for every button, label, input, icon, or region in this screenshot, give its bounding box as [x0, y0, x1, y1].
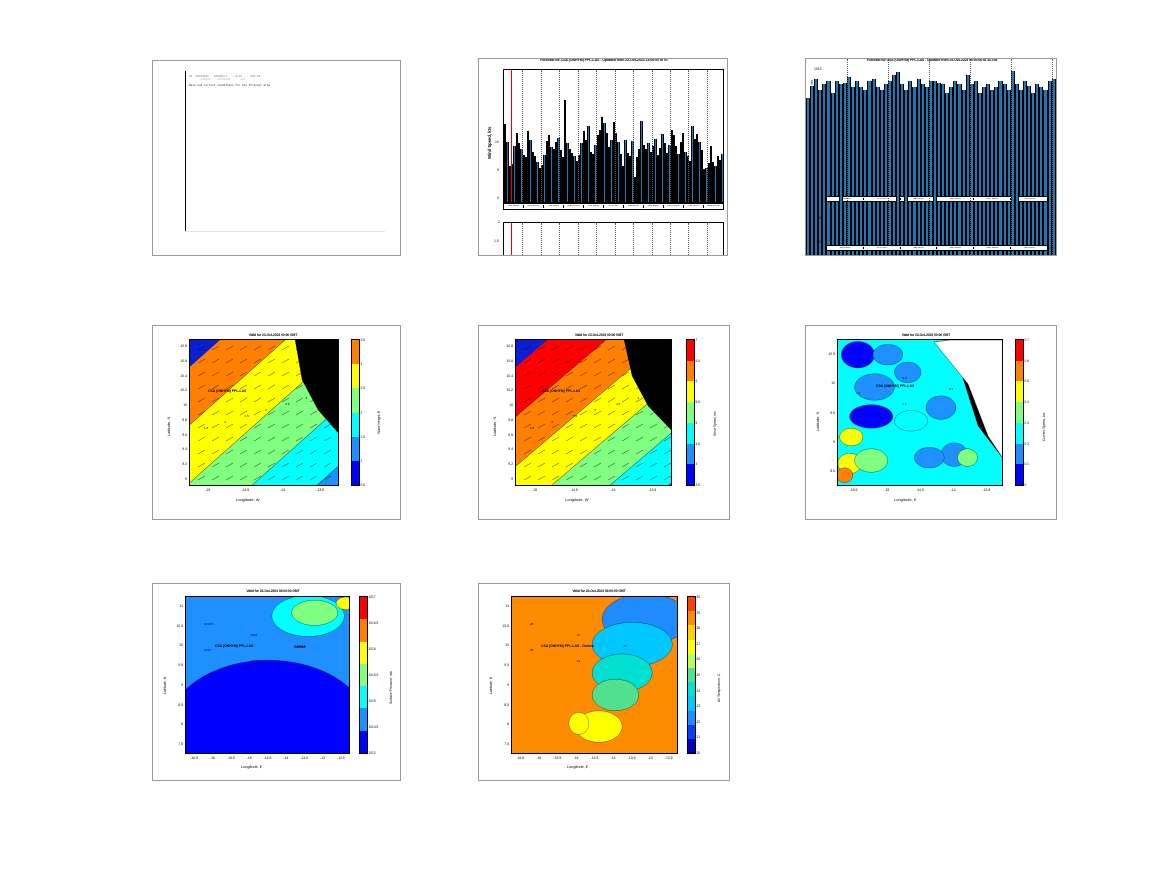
colorbar-tick: 26 — [697, 657, 701, 661]
colorbar-tick: 1.5 — [361, 435, 365, 439]
colorbar-tick: 7 — [696, 338, 698, 342]
gridline — [522, 70, 523, 202]
y-axis-tick: 9.2 — [173, 462, 187, 466]
colorbar-tick: 0.2 — [1025, 442, 1029, 446]
colorbar-tick: 3.5 — [361, 338, 365, 342]
contour-label: 2.5 — [245, 414, 249, 418]
bar — [721, 154, 723, 202]
x-axis-tick: -14.5 — [235, 488, 255, 492]
colorbar-tick: 1017 — [369, 595, 376, 599]
report-line-2: ====== ======== === — [189, 78, 245, 81]
y-axis-tick: 8 — [169, 722, 183, 726]
contour-label: 27 — [577, 633, 580, 637]
colorbar-tick: 1012 — [369, 751, 376, 755]
panel5-site-label: CSA (ONHYM) PPL-LAS — [542, 389, 580, 393]
time-axis-label: Mon 30Oct — [664, 205, 684, 208]
colorbar-tick: 20 — [697, 751, 701, 755]
precip-time-axis: Thu 26OctFri 27OctSat 28OctSun 29OctMon … — [826, 245, 1048, 251]
panel8-ylabel: Latitude, N — [489, 677, 493, 694]
y-axis-tick: 7.5 — [169, 742, 183, 746]
gridline — [652, 70, 653, 202]
colorbar-segment — [687, 444, 694, 465]
y-axis-tick: 10 — [821, 381, 835, 385]
colorbar-segment — [688, 654, 695, 668]
x-axis-tick: -15 — [566, 756, 586, 760]
colorbar-tick: 25 — [697, 673, 701, 677]
x-axis-tick: -15 — [239, 756, 259, 760]
surface-pressure-map-panel: Valid for 23-Oct-2023 03:00:00 GMT 1015.… — [152, 583, 401, 781]
y-axis-tick: 7.5 — [495, 742, 509, 746]
contour-label: 4 — [638, 396, 640, 400]
time-axis-label: Fri 27Oct — [864, 247, 901, 250]
bar — [933, 81, 937, 255]
wind-time-axis: Sun 22OctMon 23OctTue 24OctWed 25OctThu … — [503, 203, 724, 210]
current-time-marker — [511, 223, 512, 256]
current-speed-colorbar: 0.70.60.50.40.30.20.10 — [1015, 339, 1024, 486]
contour-label: 1015 — [250, 633, 257, 637]
y-axis-tick: 9.2 — [499, 462, 513, 466]
panel8-site-label: CSA (ONHYM) PPL-LAS - Guinea — [541, 644, 594, 648]
contour-field — [516, 340, 672, 486]
panel6-title: Valid for 23-Oct-2023 00:00 GMT — [836, 333, 1016, 337]
x-axis-tick: -15 — [198, 488, 218, 492]
y-axis-tick: 10 — [173, 403, 187, 407]
colorbar-tick: 0.7 — [1025, 338, 1029, 342]
x-axis-tick: -14.5 — [910, 488, 930, 492]
x-axis-tick: -14 — [603, 756, 623, 760]
gridline — [1052, 59, 1053, 255]
y-axis-tick: 10.6 — [499, 359, 513, 363]
contour-label: 4.5 — [616, 402, 620, 406]
y-axis-tick: 9 — [499, 477, 513, 481]
gridline — [929, 59, 930, 255]
x-axis-tick: -13.5 — [622, 756, 642, 760]
time-axis-label: Sat 28Oct — [901, 247, 938, 250]
gridline — [615, 223, 616, 256]
contour-label: 24 — [577, 659, 580, 663]
colorbar-segment — [688, 597, 695, 611]
x-axis-tick: -14.5 — [258, 756, 278, 760]
panel8-xlabel: Longitude, E — [567, 765, 588, 769]
x-axis-tick: -15 — [877, 488, 897, 492]
panel4-colorbar-label: Wave Height, ft — [377, 411, 381, 434]
gridline — [578, 70, 579, 202]
gridline — [633, 223, 634, 256]
forecast-text-panel: ________ ________ ___ == ======== ======… — [152, 60, 401, 256]
colorbar-segment — [687, 340, 694, 361]
time-axis-label: Thu 26Oct — [584, 205, 604, 208]
air-temperature-map-panel: Valid for 23-Oct-2023 03:00:00 GMT 28272… — [478, 583, 730, 781]
contour-label: 0.3 — [949, 387, 953, 391]
wave-height-plot — [503, 222, 724, 256]
colorbar-segment — [352, 364, 359, 388]
y-axis-tick: 9.4 — [173, 447, 187, 451]
contour-label: 6.5 — [530, 426, 534, 430]
colorbar-tick: 1 — [361, 459, 363, 463]
bar — [810, 120, 814, 255]
bar — [1015, 107, 1019, 255]
wind-ytick-10: 10 — [495, 140, 499, 144]
colorbar-segment — [352, 437, 359, 461]
time-axis-label: Mon 30Oct — [974, 247, 1011, 250]
x-axis-tick: -15 — [525, 488, 545, 492]
x-axis-tick: -13.5 — [294, 756, 314, 760]
y-axis-tick: 10 — [169, 643, 183, 647]
wind-speed-map-panel: Valid for 23-Oct-2023 00:00 GMT 6.565.55… — [478, 325, 730, 520]
colorbar-tick: 22 — [697, 720, 701, 724]
current-time-marker — [511, 70, 512, 202]
colorbar-segment — [352, 413, 359, 437]
panel8-colorbar-label: Air Temperature, C — [717, 674, 721, 702]
x-axis-tick: -13 — [640, 756, 660, 760]
colorbar-tick: 0.5 — [361, 483, 365, 487]
panel8-title: Valid for 23-Oct-2023 03:00:00 GMT — [519, 589, 679, 593]
text-left-rule — [185, 71, 186, 231]
panel5-title: Valid for 23-Oct-2023 00:00 GMT — [509, 333, 689, 337]
x-axis-tick: -14 — [276, 756, 296, 760]
x-axis-tick: -15.5 — [221, 756, 241, 760]
colorbar-tick: 3 — [361, 362, 363, 366]
gridline — [688, 223, 689, 256]
gridline — [847, 59, 848, 255]
y-axis-tick: 9.5 — [495, 663, 509, 667]
bar — [896, 72, 900, 255]
contour-label: 5 — [595, 408, 597, 412]
y-axis-tick: 9.6 — [173, 433, 187, 437]
colorbar-segment — [688, 739, 695, 753]
y-axis-tick: 8.5 — [495, 703, 509, 707]
y-axis-tick: 8 — [495, 722, 509, 726]
y-axis-tick: 9.8 — [173, 418, 187, 422]
y-axis-tick: 10.5 — [169, 624, 183, 628]
contour-label: 26 — [624, 644, 627, 648]
gridline — [707, 70, 708, 202]
bar-series — [504, 223, 723, 256]
wind-ytick-5: 5 — [497, 168, 499, 172]
contour-label: 6 — [552, 420, 554, 424]
wind-speed-colorbar: 76.565.554.543.5 — [686, 339, 695, 486]
panel7-colorbar-label: Surface Pressure, mb — [389, 671, 393, 704]
wave-ytick-2: 2 — [498, 220, 500, 224]
y-axis-tick: 10.8 — [173, 344, 187, 348]
colorbar-tick: 0.4 — [1025, 400, 1029, 404]
colorbar-tick: 0.3 — [1025, 421, 1029, 425]
colorbar-segment — [360, 597, 367, 619]
x-axis-tick: -12.5 — [659, 756, 679, 760]
contour-label: 3.5 — [285, 402, 289, 406]
colorbar-tick: 23 — [697, 704, 701, 708]
colorbar-tick: 29 — [697, 611, 701, 615]
time-axis-label: Tue 31Oct — [1011, 247, 1047, 250]
gridline — [970, 59, 971, 255]
x-axis-tick: -16.5 — [184, 756, 204, 760]
gridline — [615, 70, 616, 202]
colorbar-tick: 6 — [696, 379, 698, 383]
y-axis-tick: 8.5 — [821, 469, 835, 473]
x-axis-tick: -15.5 — [547, 756, 567, 760]
colorbar-segment — [1016, 444, 1023, 465]
panel5-ylabel: Latitude, N — [492, 417, 497, 436]
time-axis-label: Fri 27Oct — [604, 205, 624, 208]
colorbar-tick: 5 — [696, 421, 698, 425]
air-temperature-map-area: 2827262524 — [511, 596, 678, 754]
x-axis-tick: -13 — [313, 756, 333, 760]
gridline — [707, 223, 708, 256]
colorbar-segment — [360, 731, 367, 753]
panel4-site-label: CSA (ONHYM) PPL-LAS — [208, 389, 246, 393]
colorbar-tick: 2.5 — [361, 386, 365, 390]
gridline — [596, 223, 597, 256]
wave-ytick-1p5: 1.5 — [494, 239, 499, 243]
report-line-3: Wave and current conditions for the fore… — [189, 84, 270, 87]
y-axis-tick: 10.4 — [173, 374, 187, 378]
y-axis-tick: 10.6 — [173, 359, 187, 363]
y-axis-tick: 9 — [821, 440, 835, 444]
panel6-site-label: CSA (ONHYM) PPL-LAS — [876, 384, 914, 388]
x-axis-tick: -13.5 — [310, 488, 330, 492]
contour-label: 3 — [265, 408, 267, 412]
y-axis-tick: 9.5 — [169, 663, 183, 667]
colorbar-segment — [1016, 423, 1023, 444]
x-axis-tick: -14.5 — [585, 756, 605, 760]
time-axis-label: Sun 29Oct — [644, 205, 664, 208]
gridline — [596, 70, 597, 202]
x-axis-tick: -14 — [603, 488, 623, 492]
gridline — [888, 59, 889, 255]
colorbar-tick: 3.5 — [696, 483, 700, 487]
contour-label: 1013.5 — [250, 659, 259, 663]
x-axis-tick: -16 — [203, 756, 223, 760]
x-axis-tick: -15.5 — [844, 488, 864, 492]
wave-height-map-panel: Valid for 23-Oct-2023 00:00 GMT 1.522.53… — [152, 325, 401, 520]
panel2-title: Forecast for CSA (ONHYM) PPL-LAS - Updat… — [481, 58, 727, 62]
panel4-ylabel: Latitude, N — [166, 417, 171, 436]
y-axis-tick: 11 — [495, 604, 509, 608]
gridline — [578, 223, 579, 256]
wave-height-map-area: 1.522.533.54 — [189, 339, 339, 486]
gridline — [522, 223, 523, 256]
contour-label: 5.5 — [573, 414, 577, 418]
contour-label: 4 — [306, 396, 308, 400]
surface-pressure-map-area: 1015.510151014.510141013.5 — [185, 596, 350, 754]
current-speed-map-panel: Valid for 23-Oct-2023 00:00 GMT 0.10.20.… — [805, 325, 1057, 520]
x-axis-tick: -12.5 — [331, 756, 351, 760]
gridline — [670, 223, 671, 256]
y-axis-tick: 11 — [169, 604, 183, 608]
x-axis-tick: -16.5 — [510, 756, 530, 760]
colorbar-segment — [687, 381, 694, 402]
y-axis-tick: 10.5 — [495, 624, 509, 628]
wind-speed-plot — [503, 69, 724, 203]
panel7-country-label: Guinea — [294, 645, 306, 649]
contour-label: 0.4 — [856, 391, 860, 395]
colorbar-segment — [1016, 361, 1023, 382]
y-axis-tick: 10.2 — [173, 388, 187, 392]
y-axis-tick: 9 — [495, 683, 509, 687]
colorbar-segment — [352, 461, 359, 485]
colorbar-segment — [360, 686, 367, 708]
colorbar-tick: 1015.5 — [369, 673, 379, 677]
colorbar-segment — [1016, 381, 1023, 402]
colorbar-segment — [688, 682, 695, 696]
time-axis-label: Sun 29Oct — [937, 247, 974, 250]
current-speed-map-area: 0.10.20.30.40.5 — [837, 339, 1003, 486]
x-axis-tick: -14.5 — [564, 488, 584, 492]
colorbar-tick: 1014.5 — [369, 725, 379, 729]
time-axis-label: Sun 22Oct — [504, 205, 524, 208]
precip-plot — [806, 164, 1028, 201]
y-axis-tick: 9.6 — [499, 433, 513, 437]
gridline — [541, 223, 542, 256]
x-axis-tick: -16 — [529, 756, 549, 760]
panel7-title: Valid for 23-Oct-2023 03:00:00 GMT — [193, 589, 353, 593]
colorbar-tick: 0.5 — [1025, 379, 1029, 383]
x-axis-tick: -14 — [943, 488, 963, 492]
wind-ytick-0: 0 — [497, 196, 499, 200]
wind-speed-map-area: 6.565.554.54 — [515, 339, 672, 486]
wind-speed-ylabel: Wind Speed, kts — [487, 127, 492, 159]
colorbar-segment — [688, 640, 695, 654]
colorbar-segment — [1016, 464, 1023, 485]
x-axis-tick: -13.5 — [642, 488, 662, 492]
panel7-xlabel: Longitude, E — [241, 765, 262, 769]
colorbar-tick: 6.5 — [696, 359, 700, 363]
contour-label: 1015.5 — [204, 622, 213, 626]
colorbar-tick: 4.5 — [696, 442, 700, 446]
x-axis-tick: -13.5 — [976, 488, 996, 492]
contour-label: 0.1 — [856, 365, 860, 369]
air-temperature-colorbar: 3029282726252423222120 — [687, 596, 696, 754]
colorbar-tick: 21 — [697, 735, 701, 739]
x-axis-tick: -14 — [273, 488, 293, 492]
surface-pressure-colorbar: 10171016.510161015.510151014.51012 — [359, 596, 368, 754]
text-bottom-rule — [185, 231, 385, 232]
colorbar-tick: 1016.5 — [369, 621, 379, 625]
colorbar-tick: 27 — [697, 642, 701, 646]
y-axis-tick: 10.2 — [499, 388, 513, 392]
panel5-colorbar-label: Wind Speed, kts — [713, 411, 717, 436]
wind-wave-timeseries-panel: Forecast for CSA (ONHYM) PPL-LAS - Updat… — [478, 58, 728, 256]
colorbar-tick: 5.5 — [696, 400, 700, 404]
y-axis-tick: 10.8 — [499, 344, 513, 348]
bar-series — [504, 70, 723, 202]
colorbar-segment — [688, 696, 695, 710]
y-axis-tick: 10.4 — [499, 374, 513, 378]
gridline — [670, 70, 671, 202]
colorbar-tick: 30 — [697, 595, 701, 599]
y-axis-tick: 9.4 — [499, 447, 513, 451]
colorbar-tick: 2 — [361, 411, 363, 415]
contour-label: 1014 — [204, 648, 211, 652]
gridline — [688, 70, 689, 202]
colorbar-segment — [687, 423, 694, 444]
contour-label: 2 — [224, 420, 226, 424]
bar-series — [806, 59, 1056, 255]
gridline — [559, 223, 560, 256]
gridline — [559, 70, 560, 202]
colorbar-segment — [352, 340, 359, 364]
colorbar-tick: 0.6 — [1025, 359, 1029, 363]
contour-field — [512, 597, 678, 754]
time-axis-label: Tue 31Oct — [684, 205, 704, 208]
panel7-site-label: CSA (ONHYM) PPL-LAS — [215, 644, 253, 648]
colorbar-tick: 1016 — [369, 647, 376, 651]
wave-height-colorbar: 3.532.521.510.5 — [351, 339, 360, 486]
colorbar-segment — [687, 361, 694, 382]
time-axis-label: Sat 28Oct — [624, 205, 644, 208]
gridline — [652, 223, 653, 256]
contour-field — [186, 597, 350, 754]
y-axis-tick: 9.5 — [821, 411, 835, 415]
colorbar-tick: 24 — [697, 689, 701, 693]
contour-field — [838, 340, 1003, 486]
y-axis-tick: 8.5 — [169, 703, 183, 707]
colorbar-tick: 1015 — [369, 699, 376, 703]
contour-label: 28 — [530, 622, 533, 626]
colorbar-tick: 28 — [697, 626, 701, 630]
colorbar-segment — [687, 402, 694, 423]
colorbar-segment — [1016, 402, 1023, 423]
y-axis-tick: 10 — [495, 643, 509, 647]
panel7-ylabel: Latitude, N — [163, 677, 167, 694]
time-axis-label: Wed 25Oct — [564, 205, 584, 208]
panel6-ylabel: Latitude, N — [815, 412, 820, 431]
y-axis-tick: 9.8 — [499, 418, 513, 422]
gridline — [541, 70, 542, 202]
panel5-xlabel: Longitude, W — [565, 497, 589, 502]
contour-field — [190, 340, 339, 486]
contour-label: 0.2 — [902, 376, 906, 380]
colorbar-segment — [687, 464, 694, 485]
y-axis-tick: 10 — [499, 403, 513, 407]
gridline — [633, 70, 634, 202]
time-axis-label: Tue 24Oct — [544, 205, 564, 208]
time-axis-label: Wed 01Nov — [704, 205, 723, 208]
gridline — [1011, 59, 1012, 255]
colorbar-tick: 0 — [1025, 483, 1027, 487]
colorbar-tick: 0.1 — [1025, 462, 1029, 466]
y-axis-tick: 10.5 — [821, 352, 835, 356]
colorbar-segment — [360, 642, 367, 664]
contour-label: 1.5 — [204, 426, 208, 430]
colorbar-segment — [1016, 340, 1023, 361]
time-axis-label: Thu 26Oct — [827, 247, 864, 250]
panel4-title: Valid for 23-Oct-2023 00:00 GMT — [183, 333, 363, 337]
y-axis-tick: 9 — [173, 477, 187, 481]
panel6-colorbar-label: Current Speed, kts — [1042, 413, 1046, 441]
panel6-xlabel: Longitude, E — [894, 497, 916, 502]
contour-label: 0.5 — [902, 402, 906, 406]
time-axis-label: Mon 23Oct — [524, 205, 544, 208]
multi-parameter-timeseries-panel: Forecast for CSA (ONHYM) PPL-LAS - Updat… — [805, 58, 1057, 256]
bar — [839, 181, 843, 255]
contour-label: 25 — [530, 648, 533, 652]
y-axis-tick: 9 — [169, 683, 183, 687]
panel4-xlabel: Longitude, W — [236, 497, 260, 502]
colorbar-segment — [352, 388, 359, 412]
colorbar-tick: 4 — [696, 462, 698, 466]
